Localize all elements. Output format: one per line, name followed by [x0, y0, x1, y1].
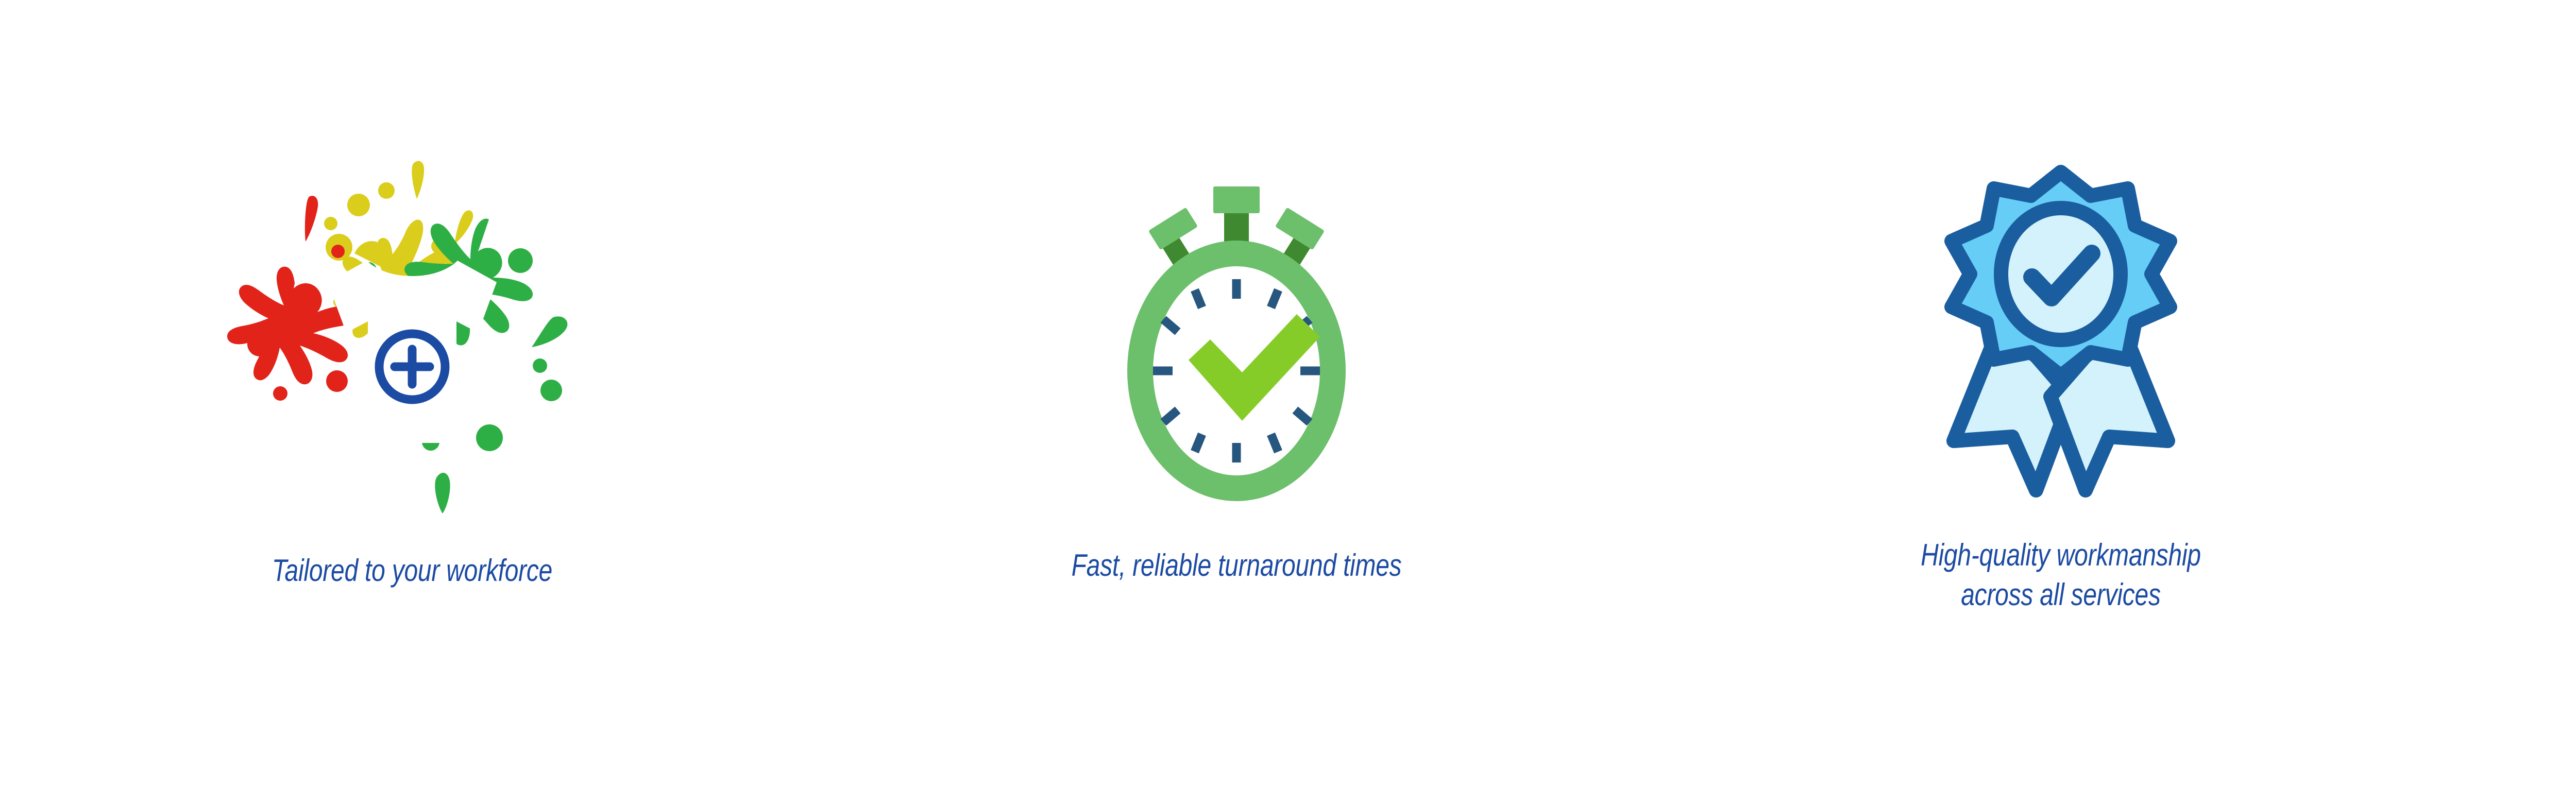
feature-item-competitive-pricing: Competitive pricing — [2473, 0, 2576, 805]
award-rosette-check-icon — [1865, 155, 2257, 515]
paint-splatter-tshirt-icon — [216, 160, 608, 520]
stopwatch-check-icon — [1041, 155, 1432, 515]
feature-item-tailored-to-your-workforce: Tailored to your workforce — [0, 0, 824, 805]
feature-caption: Tailored to your workforce — [124, 551, 701, 591]
feature-caption: Fast, reliable turnaround times — [948, 546, 1525, 586]
features-strip: Tailored to your workforce — [0, 0, 2576, 805]
rosette-medallion — [2001, 208, 2121, 340]
feature-caption: High-quality workmanship across all serv… — [1772, 536, 2349, 615]
feature-item-fast-reliable-turnaround-times: Fast, reliable turnaround times — [824, 0, 1649, 805]
feature-item-high-quality-workmanship: High-quality workmanship across all serv… — [1649, 0, 2473, 805]
